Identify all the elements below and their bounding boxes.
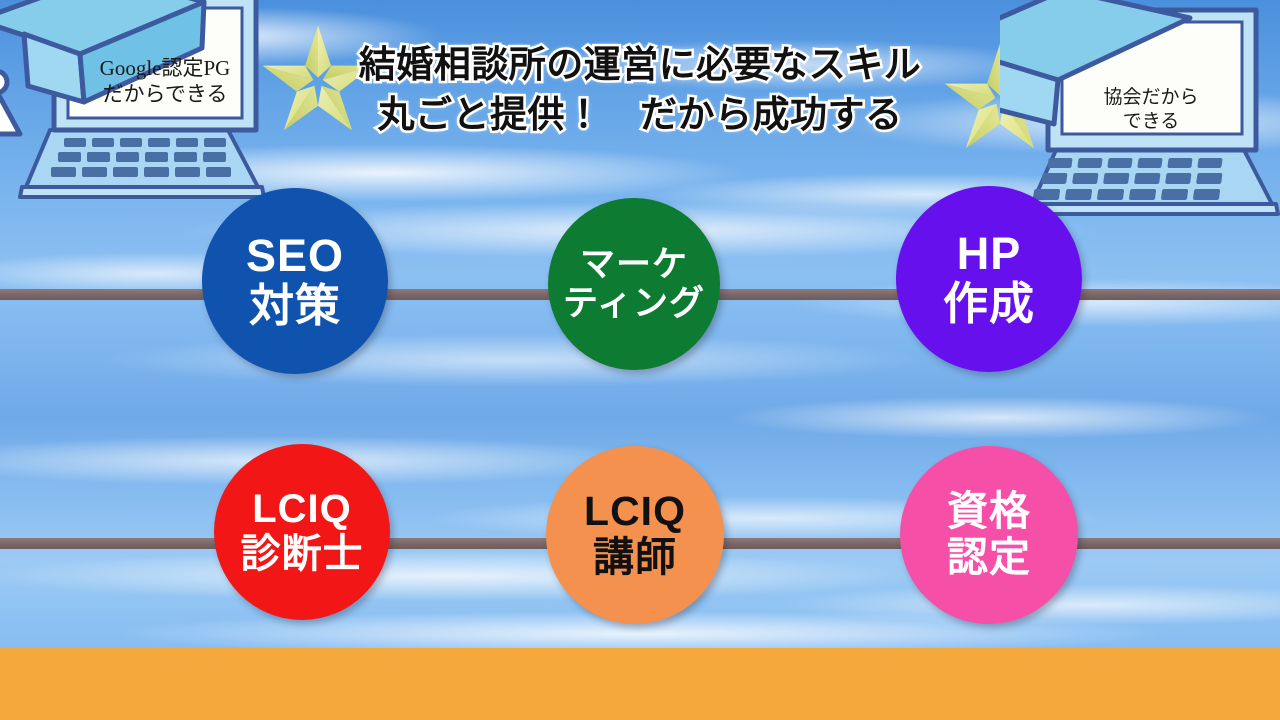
skill-bubble-lciq-koushi[interactable]: LCIQ 講師 bbox=[546, 446, 724, 624]
slide-canvas: Google認定PG だからできる bbox=[0, 0, 1280, 720]
skill-bubble-marketing[interactable]: マーケ ティング bbox=[548, 198, 720, 370]
skill-bubble-hp[interactable]: HP 作成 bbox=[896, 186, 1082, 372]
skill-bubble-shikaku-nintei[interactable]: 資格 認定 bbox=[900, 446, 1078, 624]
skill-bubble-lciq-shindanshi[interactable]: LCIQ 診断士 bbox=[214, 444, 390, 620]
page-title: 結婚相談所の運営に必要なスキル 丸ごと提供！ だから成功する bbox=[340, 40, 940, 139]
laptop-with-graduation-cap-left bbox=[0, 0, 288, 232]
skill-bubble-seo[interactable]: SEO 対策 bbox=[202, 188, 388, 374]
bottom-accent-bar bbox=[0, 648, 1280, 720]
